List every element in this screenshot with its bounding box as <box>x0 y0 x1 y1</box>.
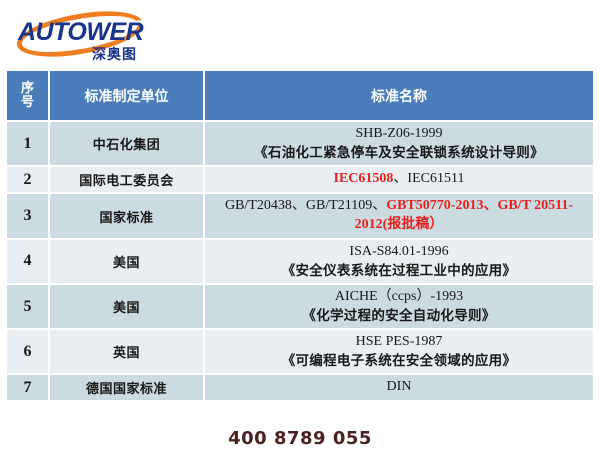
cell-standard-name: AICHE（ccps）-1993《化学过程的安全自动化导则》 <box>204 284 593 329</box>
cell-standard-organization: 国际电工委员会 <box>49 166 204 193</box>
standard-code: GB/T20438、GB/T21109、 <box>225 198 386 213</box>
cell-standard-name: DIN <box>204 374 593 400</box>
standard-name-line: 《安全仪表系统在过程工业中的应用》 <box>209 262 589 280</box>
table-row: 3国家标准GB/T20438、GB/T21109、GBT50770-2013、G… <box>7 193 593 239</box>
standard-name-line: 《化学过程的安全自动化导则》 <box>209 307 589 325</box>
cell-standard-name: SHB-Z06-1999《石油化工紧急停车及安全联锁系统设计导则》 <box>204 121 593 166</box>
table-row: 2国际电工委员会IEC61508、IEC61511 <box>7 166 593 193</box>
table-row: 5美国AICHE（ccps）-1993《化学过程的安全自动化导则》 <box>7 284 593 329</box>
standards-table: 序号 标准制定单位 标准名称 1中石化集团SHB-Z06-1999《石油化工紧急… <box>7 71 593 400</box>
cell-sequence-number: 7 <box>7 374 49 400</box>
logo-wordmark: AUTOWER <box>18 18 143 47</box>
standard-name-line: IEC61508、IEC61511 <box>209 170 589 189</box>
cell-standard-organization: 国家标准 <box>49 193 204 239</box>
highlighted-standard-code: IEC61508 <box>334 171 394 186</box>
cell-sequence-number: 4 <box>7 239 49 284</box>
standard-name-line: HSE PES-1987 <box>209 333 589 352</box>
footer-phone-number: 400 8789 055 <box>0 428 600 449</box>
table-body: 1中石化集团SHB-Z06-1999《石油化工紧急停车及安全联锁系统设计导则》2… <box>7 121 593 400</box>
standard-name-line: 《可编程电子系统在安全领域的应用》 <box>209 352 589 370</box>
standard-name-line: ISA-S84.01-1996 <box>209 243 589 262</box>
cell-standard-organization: 美国 <box>49 284 204 329</box>
logo-chinese-name: 深奥图 <box>92 44 137 64</box>
cell-sequence-number: 1 <box>7 121 49 166</box>
cell-standard-organization: 德国国家标准 <box>49 374 204 400</box>
table-row: 6英国HSE PES-1987《可编程电子系统在安全领域的应用》 <box>7 329 593 374</box>
table-row: 1中石化集团SHB-Z06-1999《石油化工紧急停车及安全联锁系统设计导则》 <box>7 121 593 166</box>
cell-standard-organization: 英国 <box>49 329 204 374</box>
column-header-org: 标准制定单位 <box>49 71 204 121</box>
cell-standard-name: IEC61508、IEC61511 <box>204 166 593 193</box>
cell-sequence-number: 5 <box>7 284 49 329</box>
standard-code: 、IEC61511 <box>393 171 464 186</box>
standard-name-line: 《石油化工紧急停车及安全联锁系统设计导则》 <box>209 144 589 162</box>
standard-name-line: AICHE（ccps）-1993 <box>209 288 589 307</box>
company-logo: AUTOWER 深奥图 <box>12 6 162 62</box>
standard-name-line: DIN <box>209 378 589 397</box>
highlighted-standard-code: GBT50770-2013、GB/T 20511-2012(报批稿） <box>355 198 573 232</box>
standard-name-line: GB/T20438、GB/T21109、GBT50770-2013、GB/T 2… <box>209 197 589 235</box>
table-row: 4美国ISA-S84.01-1996《安全仪表系统在过程工业中的应用》 <box>7 239 593 284</box>
cell-sequence-number: 3 <box>7 193 49 239</box>
cell-standard-organization: 中石化集团 <box>49 121 204 166</box>
cell-standard-name: GB/T20438、GB/T21109、GBT50770-2013、GB/T 2… <box>204 193 593 239</box>
cell-standard-name: HSE PES-1987《可编程电子系统在安全领域的应用》 <box>204 329 593 374</box>
cell-sequence-number: 2 <box>7 166 49 193</box>
standard-name-line: SHB-Z06-1999 <box>209 125 589 144</box>
column-header-no: 序号 <box>7 71 49 121</box>
cell-standard-organization: 美国 <box>49 239 204 284</box>
cell-standard-name: ISA-S84.01-1996《安全仪表系统在过程工业中的应用》 <box>204 239 593 284</box>
cell-sequence-number: 6 <box>7 329 49 374</box>
table-header-row: 序号 标准制定单位 标准名称 <box>7 71 593 121</box>
table-row: 7德国国家标准DIN <box>7 374 593 400</box>
table-header: 序号 标准制定单位 标准名称 <box>7 71 593 121</box>
column-header-name: 标准名称 <box>204 71 593 121</box>
